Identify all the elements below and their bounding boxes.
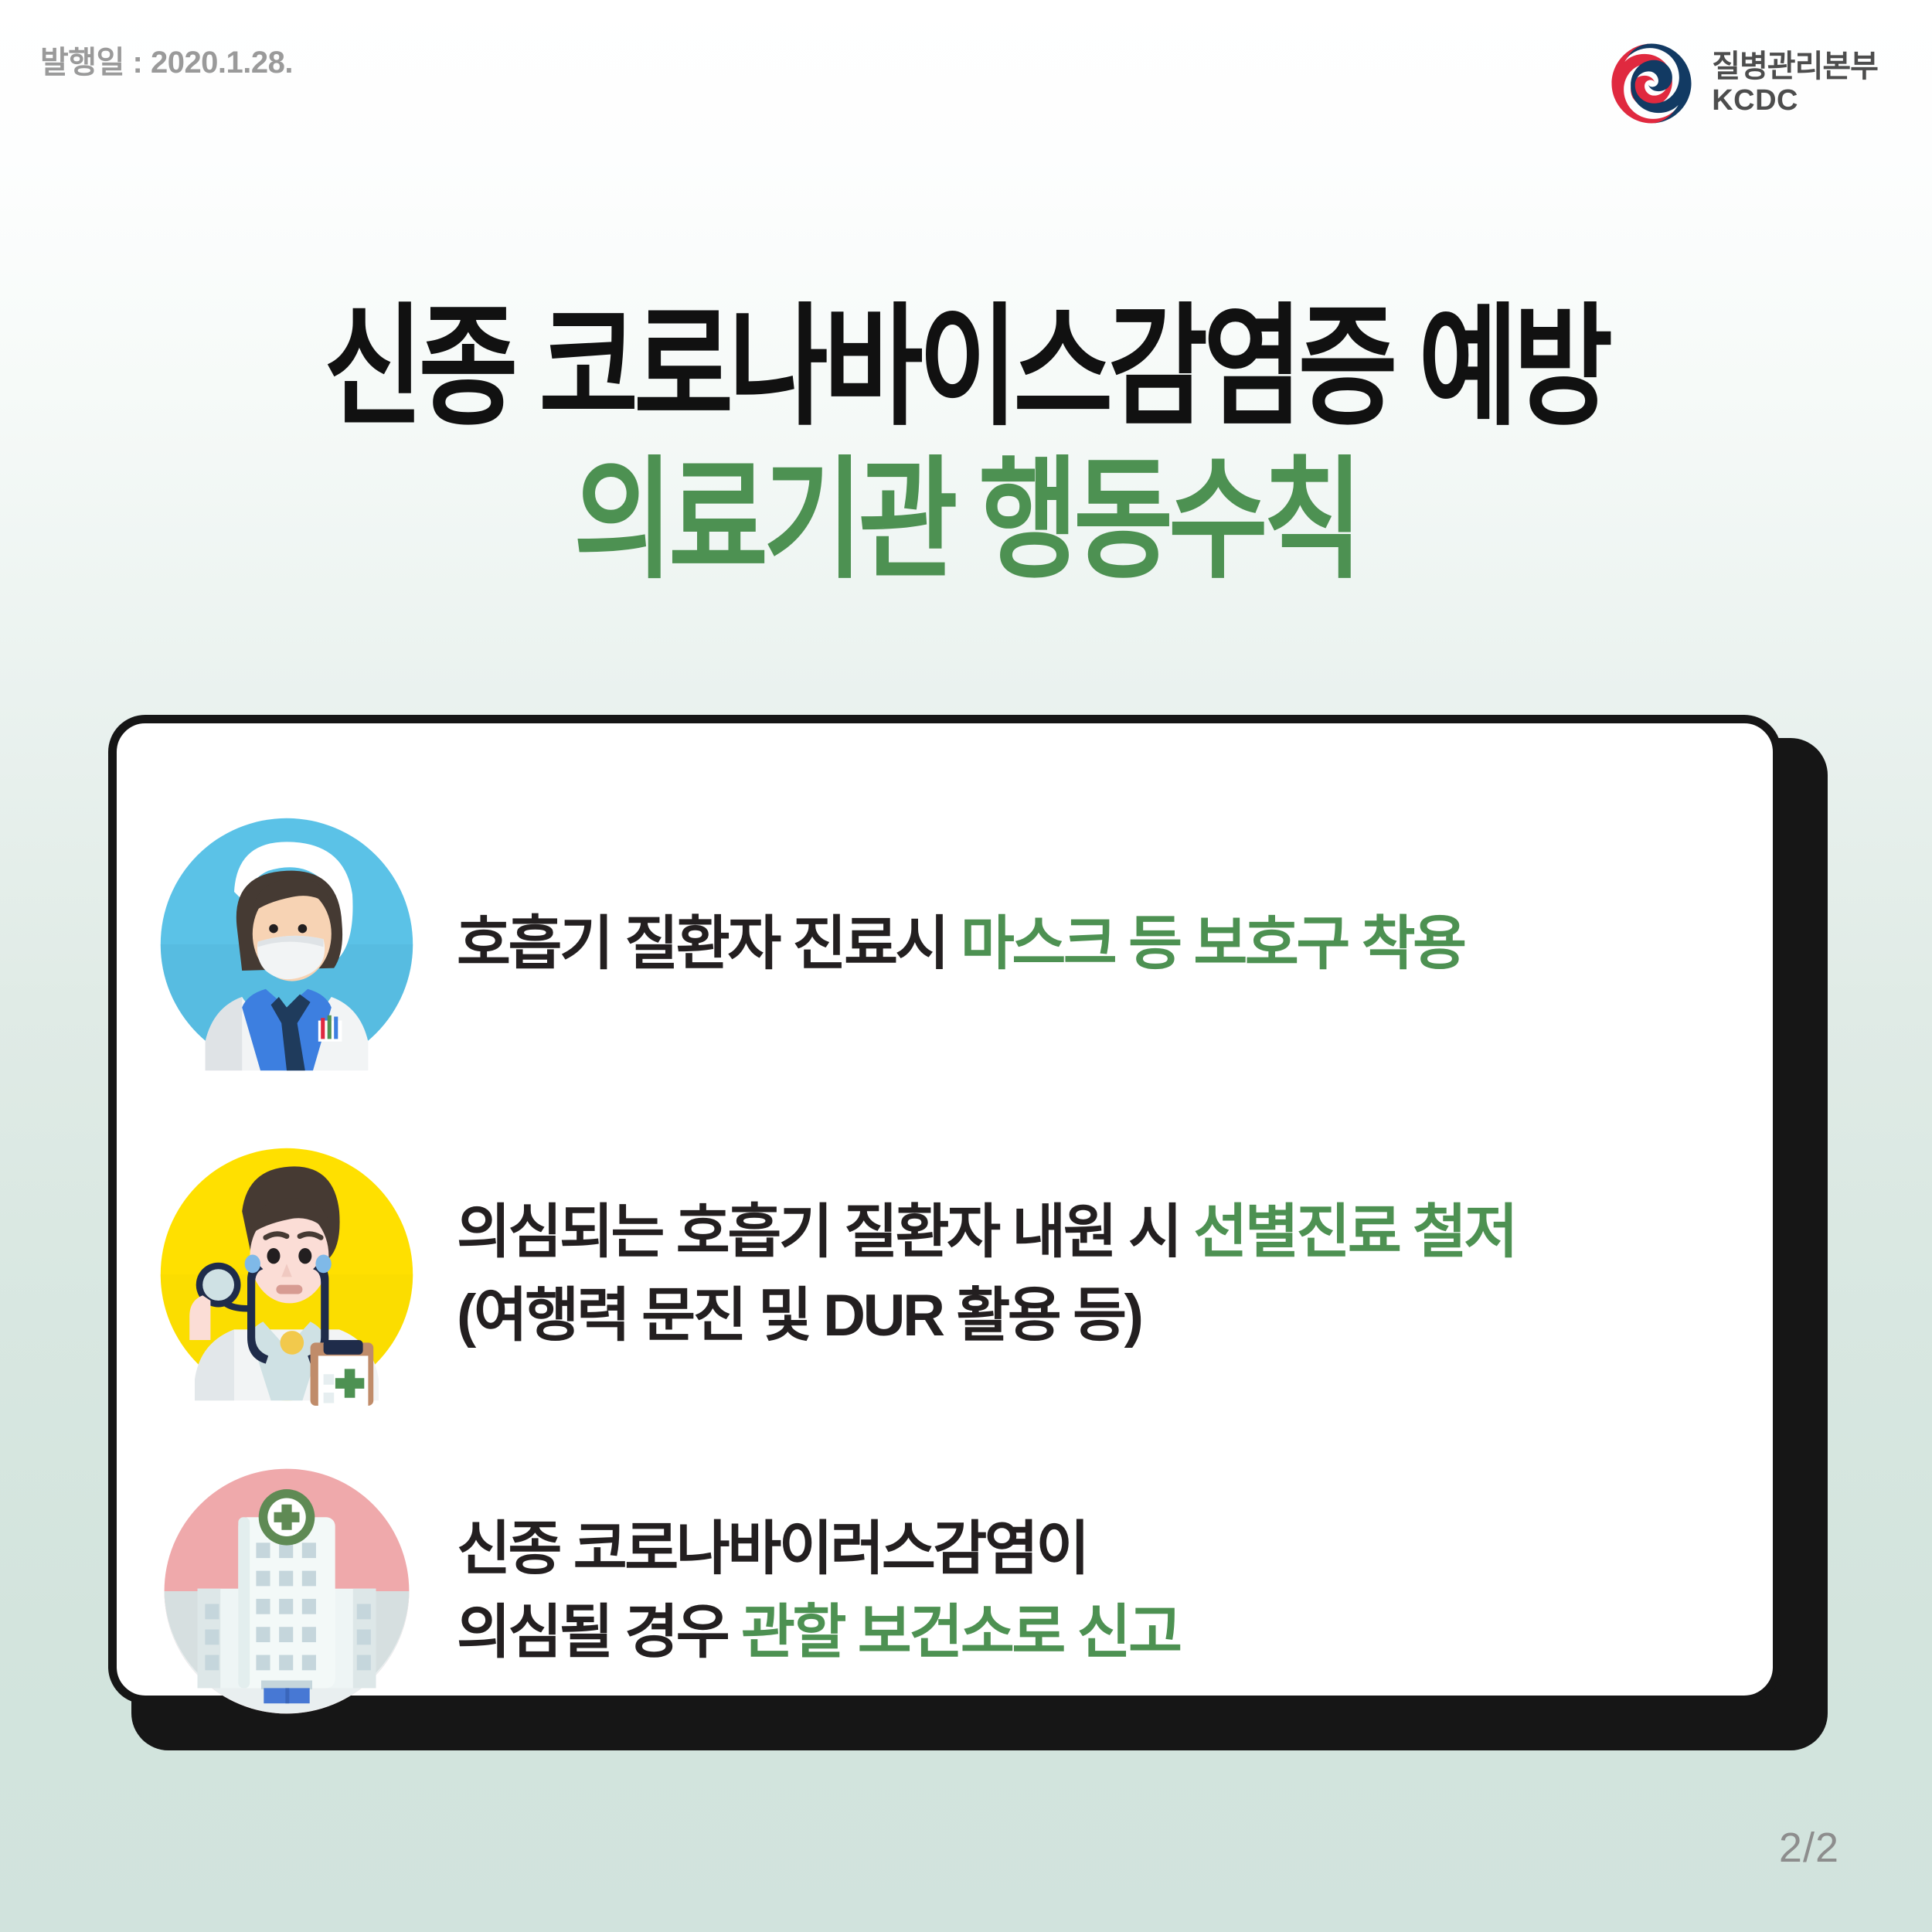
guideline-line: 호흡기 질환자 진료시 마스크 등 보호구 착용: [457, 903, 1742, 986]
issue-date-label: 발행일 : 2020.1.28.: [40, 37, 293, 82]
text-plain: (여행력 문진 및 DUR 활용 등): [457, 1283, 1141, 1349]
hospital-building-icon: [159, 1464, 414, 1719]
taegeuk-swirl-icon: [1608, 40, 1695, 127]
page-indicator: 2/2: [1779, 1824, 1839, 1872]
doctor-with-mask-icon: [155, 813, 418, 1076]
guideline-row: 호흡기 질환자 진료시 마스크 등 보호구 착용: [117, 790, 1773, 1099]
guideline-row: 신종 코로나바이러스감염이 의심될 경우 관할 보건소로 신고: [117, 1448, 1773, 1734]
org-name-kr: 질병관리본부: [1712, 49, 1878, 84]
text-plain: 의심될 경우: [457, 1600, 741, 1665]
guideline-text-cell: 신종 코로나바이러스감염이 의심될 경우 관할 보건소로 신고: [457, 1508, 1773, 1675]
guidelines-card: 호흡기 질환자 진료시 마스크 등 보호구 착용: [108, 715, 1781, 1704]
illustration-cell: [117, 1143, 457, 1406]
text-highlight: 마스크 등 보호구 착용: [961, 911, 1464, 977]
kcdc-logo: 질병관리본부 KCDC: [1608, 40, 1878, 127]
illustration-cell: [117, 813, 457, 1076]
org-name-en: KCDC: [1712, 84, 1878, 117]
text-highlight: 선별진료 철저: [1193, 1199, 1515, 1265]
guideline-line: (여행력 문진 및 DUR 활용 등): [457, 1274, 1742, 1358]
doctor-with-stethoscope-icon: [155, 1143, 418, 1406]
page-title-line2: 의료기관 행동수칙: [0, 454, 1932, 587]
text-plain: 호흡기 질환자 진료시: [457, 911, 961, 977]
text-plain: 의심되는 호흡기 질환자 내원 시: [457, 1199, 1193, 1265]
logo-text-block: 질병관리본부 KCDC: [1712, 49, 1878, 117]
guideline-text-cell: 의심되는 호흡기 질환자 내원 시 선별진료 철저 (여행력 문진 및 DUR …: [457, 1191, 1773, 1358]
guideline-row: 의심되는 호흡기 질환자 내원 시 선별진료 철저 (여행력 문진 및 DUR …: [117, 1108, 1773, 1440]
guideline-line: 의심되는 호흡기 질환자 내원 시 선별진료 철저: [457, 1191, 1742, 1274]
illustration-cell: [117, 1464, 457, 1719]
guidelines-card-wrapper: 호흡기 질환자 진료시 마스크 등 보호구 착용: [108, 715, 1828, 1750]
text-plain: 신종 코로나바이러스감염이: [457, 1516, 1087, 1582]
title-block: 신종 코로나바이스감염증 예방 의료기관 행동수칙: [0, 301, 1932, 563]
guideline-text-cell: 호흡기 질환자 진료시 마스크 등 보호구 착용: [457, 903, 1773, 986]
page-title-line1: 신종 코로나바이스감염증 예방: [0, 301, 1932, 434]
guideline-line: 의심될 경우 관할 보건소로 신고: [457, 1591, 1742, 1675]
text-highlight: 관할 보건소로 신고: [741, 1600, 1180, 1665]
page-header: 발행일 : 2020.1.28. 질병관리본부 KCDC: [0, 0, 1932, 162]
guideline-line: 신종 코로나바이러스감염이: [457, 1508, 1742, 1591]
